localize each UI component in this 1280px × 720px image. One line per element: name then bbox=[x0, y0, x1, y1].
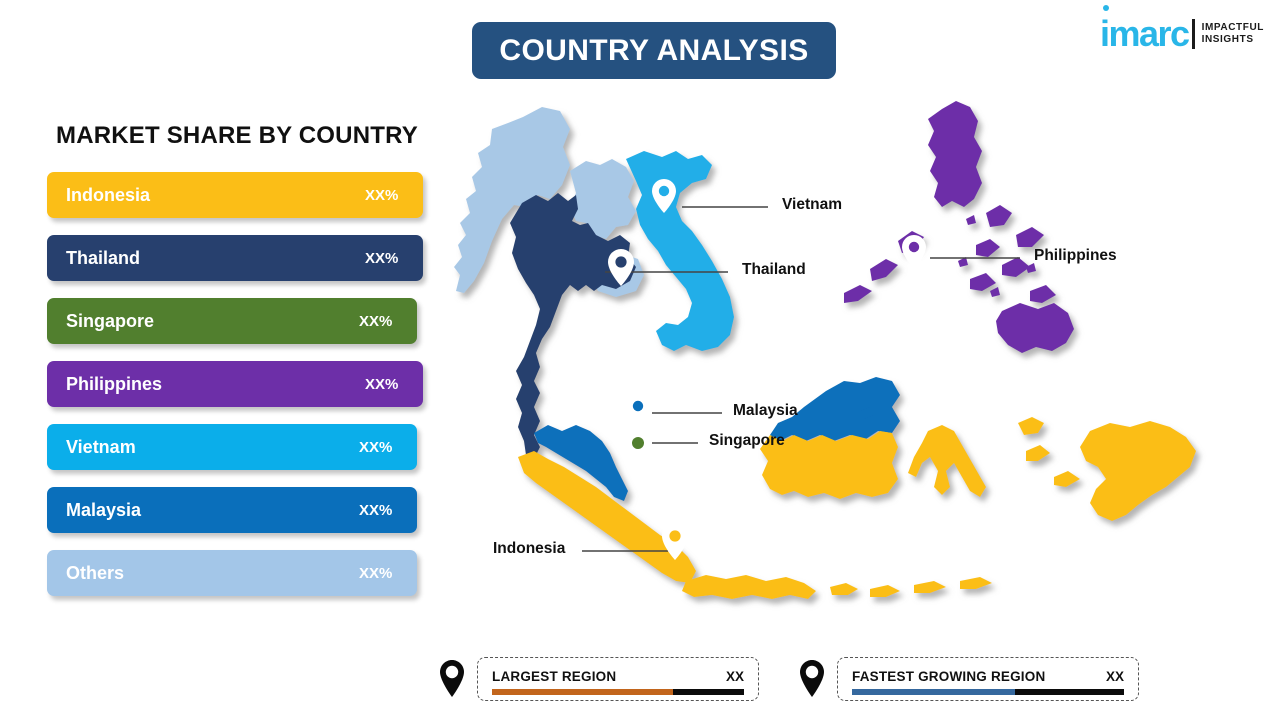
fastest-growing-region-value: XX bbox=[1106, 669, 1124, 684]
page-title-banner: COUNTRY ANALYSIS bbox=[472, 22, 836, 79]
page-title: COUNTRY ANALYSIS bbox=[499, 34, 808, 68]
southeast-asia-map: Vietnam Thailand Philippines Malaysia Si… bbox=[430, 95, 1260, 635]
logo-tagline: IMPACTFUL INSIGHTS bbox=[1202, 22, 1264, 46]
largest-region-box: LARGEST REGION XX bbox=[477, 657, 759, 701]
fastest-growing-region-legend: FASTEST GROWING REGION XX bbox=[795, 655, 1139, 703]
bar-value: XX% bbox=[359, 502, 392, 519]
country-papua bbox=[1080, 421, 1196, 521]
bar-label: Others bbox=[66, 563, 124, 584]
map-label-singapore: Singapore bbox=[709, 432, 785, 450]
bar-value: XX% bbox=[359, 439, 392, 456]
country-java bbox=[682, 575, 816, 599]
bar-label: Philippines bbox=[66, 374, 162, 395]
map-pin-icon bbox=[795, 657, 829, 701]
market-share-bar: Thailand XX% bbox=[47, 235, 423, 281]
country-mindanao bbox=[996, 303, 1074, 353]
bar-label: Singapore bbox=[66, 311, 154, 332]
largest-region-row: LARGEST REGION XX bbox=[492, 669, 744, 684]
map-label-vietnam: Vietnam bbox=[782, 196, 842, 214]
bar-value: XX% bbox=[359, 565, 392, 582]
country-maluku bbox=[1018, 417, 1080, 487]
bar-value: XX% bbox=[359, 313, 392, 330]
market-share-bar: Philippines XX% bbox=[47, 361, 423, 407]
market-share-bar: Others XX% bbox=[47, 550, 417, 596]
fastest-growing-region-track bbox=[852, 689, 1124, 695]
bar-value: XX% bbox=[365, 250, 398, 267]
market-share-bar: Malaysia XX% bbox=[47, 487, 417, 533]
logo-tagline-top: IMPACTFUL bbox=[1202, 22, 1264, 34]
bar-label: Vietnam bbox=[66, 437, 136, 458]
logo-dot-icon bbox=[1103, 5, 1109, 11]
map-pin-icon bbox=[435, 657, 469, 701]
map-label-thailand: Thailand bbox=[742, 261, 806, 279]
country-thailand bbox=[510, 193, 636, 459]
logo-tagline-bottom: INSIGHTS bbox=[1202, 34, 1264, 46]
pin-malaysia bbox=[626, 394, 650, 428]
logo-wordmark: imarc bbox=[1100, 16, 1189, 52]
pin-philippines bbox=[902, 235, 926, 269]
map-label-indonesia: Indonesia bbox=[493, 540, 565, 558]
singapore-marker-dot bbox=[632, 437, 644, 449]
bar-label: Thailand bbox=[66, 248, 140, 269]
market-share-heading: MARKET SHARE BY COUNTRY bbox=[56, 122, 418, 150]
largest-region-value: XX bbox=[726, 669, 744, 684]
fastest-growing-region-row: FASTEST GROWING REGION XX bbox=[852, 669, 1124, 684]
country-vietnam bbox=[626, 151, 734, 351]
country-luzon bbox=[928, 101, 982, 207]
bar-label: Indonesia bbox=[66, 185, 150, 206]
largest-region-legend: LARGEST REGION XX bbox=[435, 655, 759, 703]
largest-region-track bbox=[492, 689, 744, 695]
bar-value: XX% bbox=[365, 376, 398, 393]
market-share-bar: Vietnam XX% bbox=[47, 424, 417, 470]
market-share-bar: Singapore XX% bbox=[47, 298, 417, 344]
fastest-growing-region-box: FASTEST GROWING REGION XX bbox=[837, 657, 1139, 701]
logo-divider bbox=[1192, 19, 1195, 49]
map-label-philippines: Philippines bbox=[1034, 247, 1117, 265]
imarc-logo: imarc IMPACTFUL INSIGHTS bbox=[1100, 12, 1264, 56]
country-sulawesi bbox=[908, 425, 986, 497]
market-share-bar: Indonesia XX% bbox=[47, 172, 423, 218]
market-share-bar-list: Indonesia XX% Thailand XX% Singapore XX%… bbox=[47, 172, 427, 613]
largest-region-fill bbox=[492, 689, 673, 695]
bar-value: XX% bbox=[365, 187, 398, 204]
country-philippine-islets bbox=[958, 215, 1036, 297]
bar-label: Malaysia bbox=[66, 500, 141, 521]
largest-region-label: LARGEST REGION bbox=[492, 669, 616, 684]
fastest-growing-region-fill bbox=[852, 689, 1015, 695]
country-lesser-sunda bbox=[830, 577, 992, 597]
map-label-malaysia: Malaysia bbox=[733, 402, 798, 420]
fastest-growing-region-label: FASTEST GROWING REGION bbox=[852, 669, 1045, 684]
